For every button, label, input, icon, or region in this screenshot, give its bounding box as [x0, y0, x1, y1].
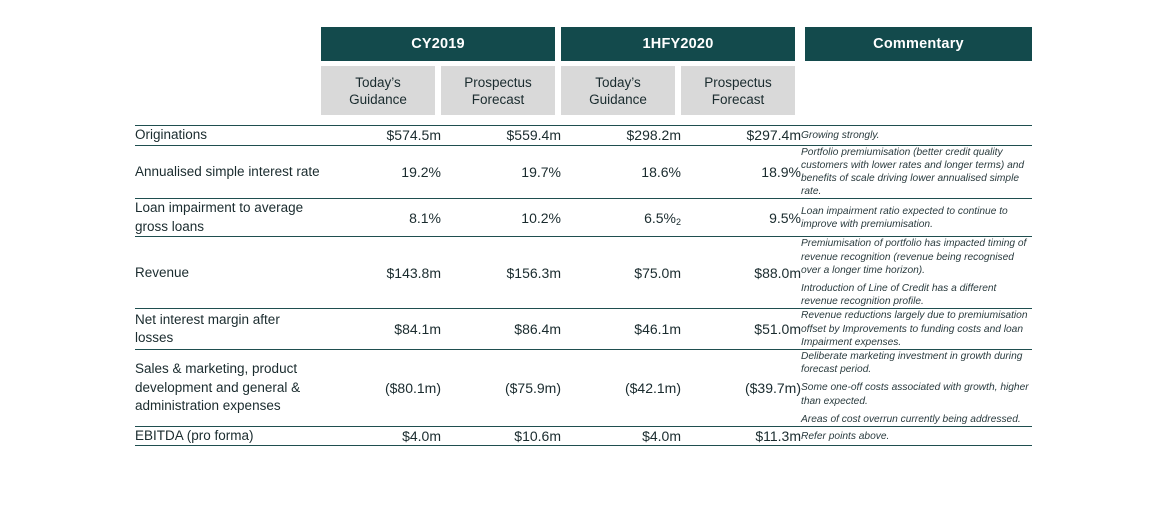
- table-row: Sales & marketing, product development a…: [135, 349, 1032, 426]
- sub-header-line1: Prospectus: [464, 74, 532, 91]
- row-value: $156.3m: [441, 237, 561, 309]
- commentary-paragraph: Introduction of Line of Credit has a dif…: [801, 282, 1032, 308]
- row-value: $10.6m: [441, 426, 561, 446]
- row-commentary: Growing strongly.: [801, 126, 1032, 146]
- sub-header-1hfy2020-todays-guidance: Today’s Guidance: [561, 66, 675, 115]
- row-label: EBITDA (pro forma): [135, 426, 321, 446]
- row-commentary: Loan impairment ratio expected to contin…: [801, 199, 1032, 237]
- table-row: Annualised simple interest rate19.2%19.7…: [135, 145, 1032, 199]
- row-label: Annualised simple interest rate: [135, 145, 321, 199]
- row-label: Net interest margin after losses: [135, 309, 321, 350]
- row-value: ($75.9m): [441, 349, 561, 426]
- row-value: 8.1%: [321, 199, 441, 237]
- row-commentary: Deliberate marketing investment in growt…: [801, 349, 1032, 426]
- row-value: 18.6%: [561, 145, 681, 199]
- commentary-paragraph: Refer points above.: [801, 430, 1032, 443]
- table-group-header-band: CY2019 1HFY2020 Commentary: [0, 27, 1150, 61]
- sub-header-line2: Forecast: [472, 91, 525, 108]
- row-value: $298.2m: [561, 126, 681, 146]
- row-value: 9.5%: [681, 199, 801, 237]
- group-header-commentary: Commentary: [805, 27, 1032, 61]
- row-value: 6.5%2: [561, 199, 681, 237]
- row-value: $574.5m: [321, 126, 441, 146]
- row-commentary: Premiumisation of portfolio has impacted…: [801, 237, 1032, 309]
- row-commentary: Portfolio premiumisation (better credit …: [801, 145, 1032, 199]
- row-label: Loan impairment to average gross loans: [135, 199, 321, 237]
- sub-header-line1: Today’s: [595, 74, 641, 91]
- sub-header-line2: Guidance: [349, 91, 407, 108]
- row-value: $297.4m: [681, 126, 801, 146]
- row-value: $75.0m: [561, 237, 681, 309]
- row-value: $46.1m: [561, 309, 681, 350]
- commentary-paragraph: Areas of cost overrun currently being ad…: [801, 413, 1032, 426]
- sub-header-line2: Forecast: [712, 91, 765, 108]
- sub-header-line1: Prospectus: [704, 74, 772, 91]
- row-value: $4.0m: [561, 426, 681, 446]
- row-value: ($42.1m): [561, 349, 681, 426]
- guidance-comparison-table: CY2019 1HFY2020 Commentary Today’s Guida…: [0, 0, 1150, 528]
- row-value: 10.2%: [441, 199, 561, 237]
- row-commentary: Revenue reductions largely due to premiu…: [801, 309, 1032, 350]
- row-value: ($80.1m): [321, 349, 441, 426]
- sub-header-cy2019-todays-guidance: Today’s Guidance: [321, 66, 435, 115]
- row-value: $143.8m: [321, 237, 441, 309]
- row-value: $11.3m: [681, 426, 801, 446]
- sub-header-1hfy2020-prospectus-forecast: Prospectus Forecast: [681, 66, 795, 115]
- group-header-cy2019: CY2019: [321, 27, 555, 61]
- row-value: ($39.7m): [681, 349, 801, 426]
- row-label: Sales & marketing, product development a…: [135, 349, 321, 426]
- row-value: $84.1m: [321, 309, 441, 350]
- sub-header-cy2019-prospectus-forecast: Prospectus Forecast: [441, 66, 555, 115]
- table-row: Loan impairment to average gross loans8.…: [135, 199, 1032, 237]
- sub-header-line2: Guidance: [589, 91, 647, 108]
- row-value: $86.4m: [441, 309, 561, 350]
- metrics-table-body: Originations$574.5m$559.4m$298.2m$297.4m…: [135, 126, 1032, 446]
- row-value: $4.0m: [321, 426, 441, 446]
- table-row: Net interest margin after losses$84.1m$8…: [135, 309, 1032, 350]
- row-value: 19.2%: [321, 145, 441, 199]
- commentary-paragraph: Loan impairment ratio expected to contin…: [801, 205, 1032, 231]
- commentary-paragraph: Deliberate marketing investment in growt…: [801, 350, 1032, 376]
- commentary-paragraph: Revenue reductions largely due to premiu…: [801, 309, 1032, 349]
- table-row: Revenue$143.8m$156.3m$75.0m$88.0mPremium…: [135, 237, 1032, 309]
- group-header-1hfy2020: 1HFY2020: [561, 27, 795, 61]
- table-row: Originations$574.5m$559.4m$298.2m$297.4m…: [135, 126, 1032, 146]
- row-value: 18.9%: [681, 145, 801, 199]
- row-label: Originations: [135, 126, 321, 146]
- commentary-paragraph: Growing strongly.: [801, 129, 1032, 142]
- commentary-paragraph: Premiumisation of portfolio has impacted…: [801, 237, 1032, 277]
- table-row: EBITDA (pro forma)$4.0m$10.6m$4.0m$11.3m…: [135, 426, 1032, 446]
- row-label: Revenue: [135, 237, 321, 309]
- row-value: $88.0m: [681, 237, 801, 309]
- row-value: 19.7%: [441, 145, 561, 199]
- table-sub-header-band: Today’s Guidance Prospectus Forecast Tod…: [0, 66, 1150, 115]
- row-commentary: Refer points above.: [801, 426, 1032, 446]
- commentary-paragraph: Some one-off costs associated with growt…: [801, 381, 1032, 407]
- sub-header-line1: Today’s: [355, 74, 401, 91]
- metrics-table: Originations$574.5m$559.4m$298.2m$297.4m…: [135, 125, 1032, 446]
- footnote-marker: 2: [676, 217, 681, 227]
- row-value: $51.0m: [681, 309, 801, 350]
- row-value: $559.4m: [441, 126, 561, 146]
- commentary-paragraph: Portfolio premiumisation (better credit …: [801, 146, 1032, 199]
